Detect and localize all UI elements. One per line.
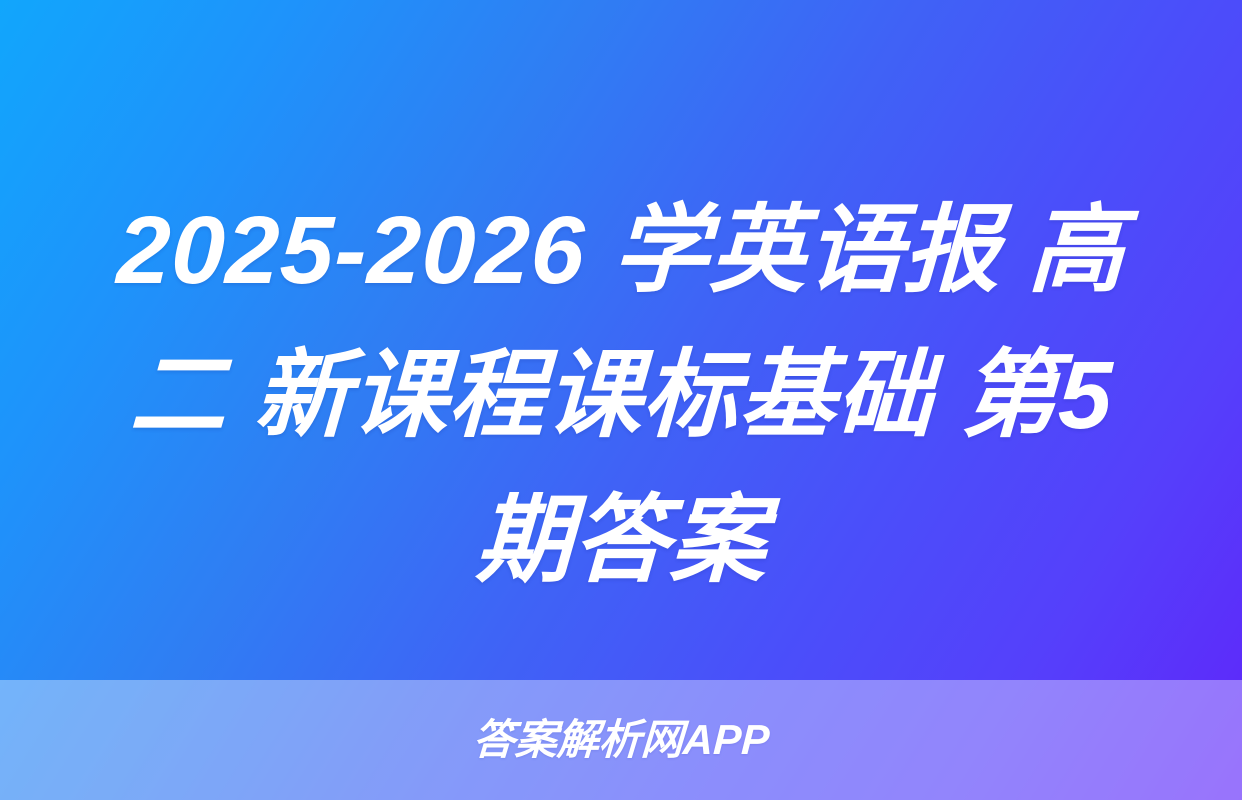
poster-title: 2025-2026 学英语报 高 二 新课程课标基础 第5 期答案 — [0, 178, 1242, 608]
poster-canvas: 2025-2026 学英语报 高 二 新课程课标基础 第5 期答案 答案解析网A… — [0, 0, 1242, 800]
page-title-line-3: 期答案 — [473, 468, 769, 613]
page-title-line-1: 2025-2026 学英语报 高 — [114, 178, 1128, 323]
app-watermark-label: 答案解析网APP — [472, 718, 771, 762]
watermark-band: 答案解析网APP — [0, 680, 1242, 800]
page-title-line-2: 二 新课程课标基础 第5 — [127, 323, 1115, 468]
